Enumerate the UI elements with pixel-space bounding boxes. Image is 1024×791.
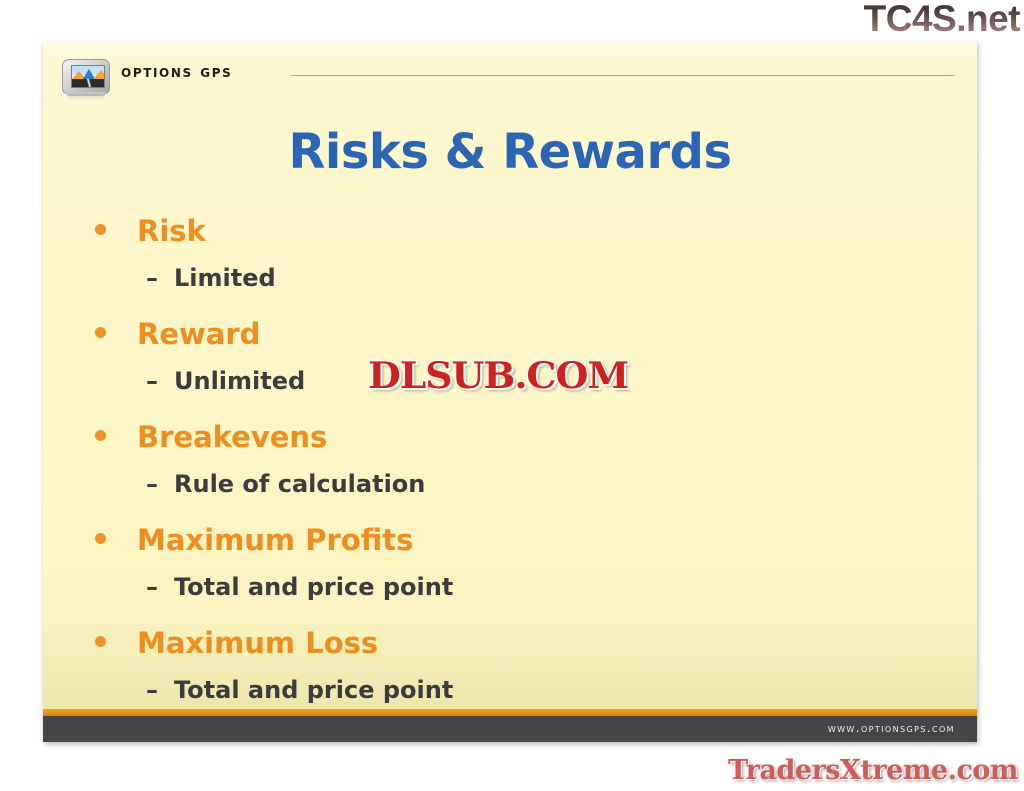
- slide-header: Options GPS: [43, 42, 977, 100]
- list-item-label: Breakevens: [137, 420, 327, 454]
- tc4s-watermark: TC4S.net: [864, 0, 1020, 40]
- gps-device-body: [62, 59, 110, 94]
- slide-footer: www.OptionsGPS.com: [43, 716, 977, 742]
- list-item-label: Limited: [174, 264, 276, 292]
- page-title: Risks & Rewards: [43, 124, 977, 180]
- list-item: – Total and price point: [95, 573, 935, 620]
- gps-device-reflection: [67, 95, 105, 101]
- list-item-label: Risk: [137, 214, 206, 248]
- list-item: – Limited: [95, 264, 935, 311]
- dlsub-watermark: DLSUB.COM: [368, 356, 628, 396]
- dash-marker-icon: –: [146, 676, 158, 704]
- bullet-list: Risk – Limited Reward – Unlimited Breake…: [95, 214, 935, 729]
- dash-marker-icon: –: [146, 367, 158, 395]
- dash-marker-icon: –: [146, 573, 158, 601]
- gps-device-screen: [71, 65, 105, 88]
- list-item-label: Reward: [137, 317, 260, 351]
- dash-marker-icon: –: [146, 264, 158, 292]
- list-item-label: Maximum Profits: [137, 523, 413, 557]
- presentation-slide: Options GPS Risks & Rewards Risk – Limit…: [43, 42, 977, 742]
- bullet-dot-icon: [95, 533, 106, 544]
- gps-device-icon: [62, 59, 112, 97]
- bullet-dot-icon: [95, 636, 106, 647]
- header-divider: [291, 75, 955, 76]
- list-item-label: Total and price point: [174, 573, 453, 601]
- list-item: Maximum Profits: [95, 523, 935, 569]
- list-item-label: Total and price point: [174, 676, 453, 704]
- list-item: Breakevens: [95, 420, 935, 466]
- list-item-label: Maximum Loss: [137, 626, 378, 660]
- footer-url-label: www.OptionsGPS.com: [828, 721, 955, 735]
- tradersxtreme-brand: TradersXtreme.com: [728, 755, 1018, 787]
- bullet-dot-icon: [95, 327, 106, 338]
- list-item: Risk: [95, 214, 935, 260]
- bullet-dot-icon: [95, 430, 106, 441]
- dash-marker-icon: –: [146, 470, 158, 498]
- list-item: – Rule of calculation: [95, 470, 935, 517]
- bullet-dot-icon: [95, 224, 106, 235]
- footer-accent-bar: [43, 709, 977, 716]
- list-item-label: Rule of calculation: [174, 470, 425, 498]
- list-item: Maximum Loss: [95, 626, 935, 672]
- screen-road: [74, 79, 104, 88]
- list-item-label: Unlimited: [174, 367, 305, 395]
- brand-wordmark: Options GPS: [121, 62, 232, 82]
